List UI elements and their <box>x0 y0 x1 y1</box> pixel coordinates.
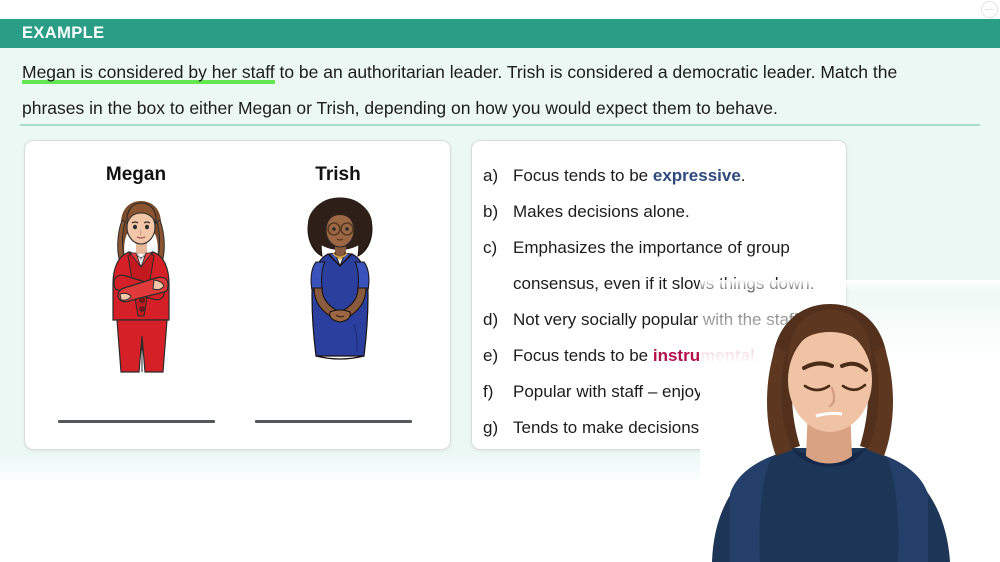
intro-line1-rest: to be an authoritarian leader. Trish is … <box>275 62 898 82</box>
intro-line2: phrases in the box to either Megan or Tr… <box>22 98 778 118</box>
top-strip <box>0 0 1000 19</box>
list-item[interactable]: b) Makes decisions alone. <box>483 194 839 230</box>
option-marker: e) <box>483 338 513 374</box>
person-name-megan: Megan <box>66 164 206 186</box>
option-text-before: Focus tends to be <box>513 166 653 185</box>
slide-stage: EXAMPLE Megan is considered by her staff… <box>0 0 1000 562</box>
list-item[interactable]: a) Focus tends to be expressive. <box>483 158 839 194</box>
option-marker: c) <box>483 230 513 266</box>
intro-paragraph: Megan is considered by her staff to be a… <box>22 54 922 126</box>
presenter-video <box>700 280 1000 562</box>
highlighted-phrase: Megan is considered by her staff <box>22 62 275 84</box>
person-name-trish: Trish <box>268 164 408 186</box>
option-marker: f) <box>483 374 513 410</box>
option-marker: g) <box>483 410 513 446</box>
option-keyword: expressive <box>653 166 741 185</box>
option-text: Makes decisions alone. <box>513 194 839 230</box>
woman-red-suit-arms-crossed-illustration <box>96 196 186 374</box>
circle-minus-icon[interactable] <box>981 1 998 18</box>
option-text-before: Focus tends to be <box>513 346 653 365</box>
option-text-after: . <box>741 166 746 185</box>
answer-line-trish[interactable] <box>255 420 412 423</box>
people-card <box>24 140 451 450</box>
example-banner-label: EXAMPLE <box>22 24 105 43</box>
woman-blue-dress-glasses-illustration <box>296 196 384 374</box>
example-banner: EXAMPLE <box>0 19 1000 48</box>
option-text: Focus tends to be expressive. <box>513 158 839 194</box>
section-divider <box>20 124 980 126</box>
answer-line-megan[interactable] <box>58 420 215 423</box>
option-marker: b) <box>483 194 513 230</box>
presenter-figure <box>700 280 1000 562</box>
option-marker: a) <box>483 158 513 194</box>
option-marker: d) <box>483 302 513 338</box>
